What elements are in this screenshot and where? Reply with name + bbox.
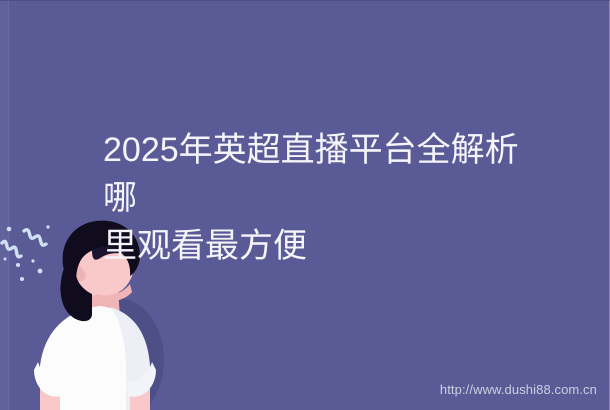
watermark-url: http://www.dushi88.com.cn (440, 382, 597, 398)
title-line-1: 2025年英超直播平台全解析哪 (103, 131, 519, 217)
page-title: 2025年英超直播平台全解析哪里观看最方便 (103, 126, 533, 270)
title-line-2: 里观看最方便 (103, 227, 307, 265)
article-banner: 2025年英超直播平台全解析哪里观看最方便 http://www.dushi88… (0, 0, 610, 410)
